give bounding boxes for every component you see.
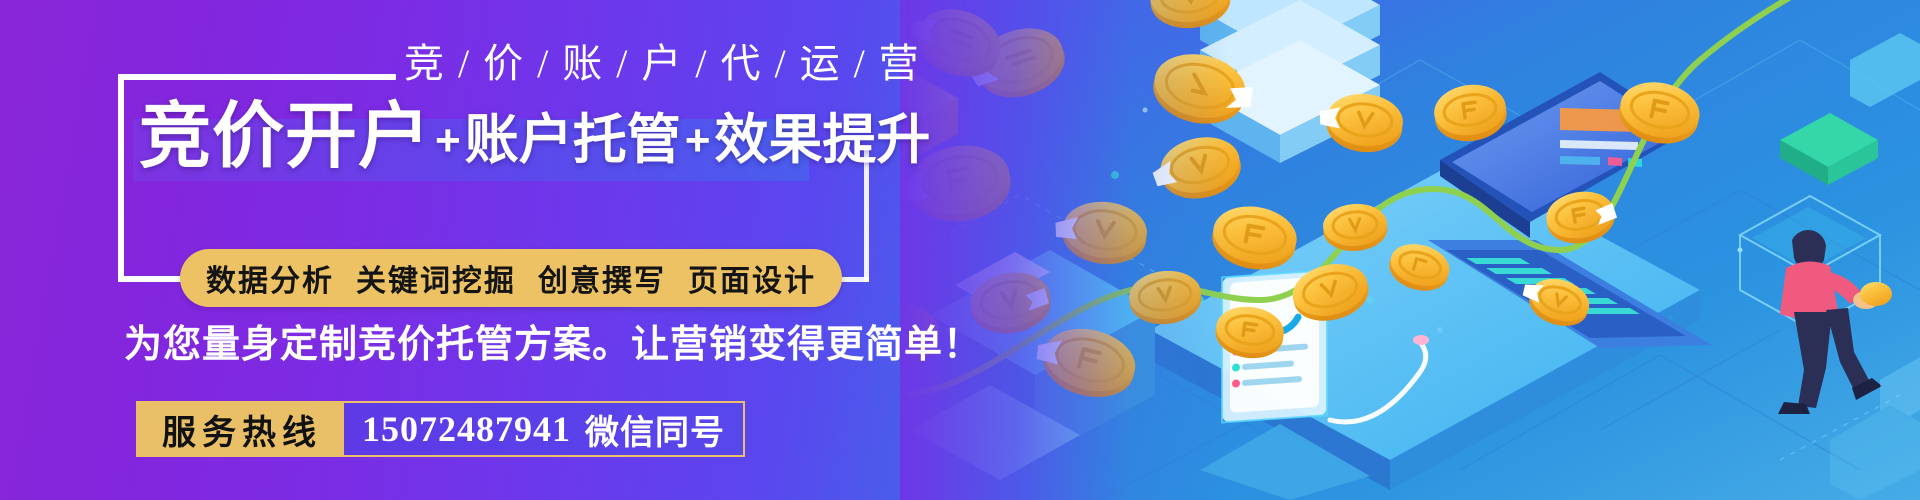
headline-part-1: 竞价开户 (139, 97, 431, 177)
hotline-bar: 服务热线 15072487941 微信同号 (136, 401, 745, 457)
headline-plus-2: + (681, 116, 715, 165)
hotline-wechat-note: 微信同号 (585, 405, 725, 454)
banner-content: 竞 / 价 / 账 / 户 / 代 / 运 / 营 竞价开户+账户托管+效果提升… (0, 0, 960, 500)
bracket-left-line (118, 74, 124, 282)
bracket-top-line (118, 74, 396, 80)
services-pill: 数据分析 关键词挖掘 创意撰写 页面设计 (180, 249, 842, 307)
service-item-2: 创意撰写 (538, 256, 666, 300)
headline: 竞价开户+账户托管+效果提升 (139, 101, 930, 173)
service-item-0: 数据分析 (206, 256, 334, 300)
hotline-label: 服务热线 (136, 401, 344, 457)
hotline-number: 15072487941 (362, 408, 571, 450)
hotline-number-box[interactable]: 15072487941 微信同号 (344, 401, 745, 457)
headline-part-3: 效果提升 (714, 110, 930, 170)
service-item-1: 关键词挖掘 (356, 256, 516, 300)
illustration (900, 0, 1920, 500)
marketing-banner: 竞 / 价 / 账 / 户 / 代 / 运 / 营 竞价开户+账户托管+效果提升… (0, 0, 1920, 500)
headline-part-2: 账户托管 (465, 110, 681, 170)
subtitle: 为您量身定制竞价托管方案。让营销变得更简单！ (124, 326, 982, 364)
service-item-3: 页面设计 (688, 256, 816, 300)
tagline: 竞 / 价 / 账 / 户 / 代 / 运 / 营 (404, 44, 921, 84)
headline-plus-1: + (431, 116, 465, 165)
